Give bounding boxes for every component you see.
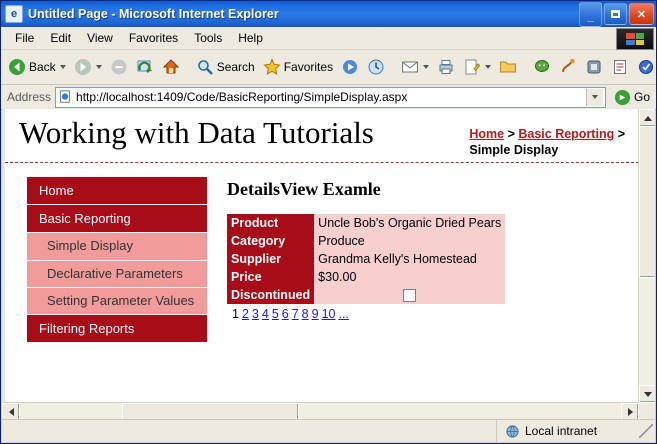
details-label-category: Category	[227, 232, 314, 250]
stop-icon	[110, 58, 128, 76]
address-url-text: http://localhost:1409/Code/BasicReportin…	[76, 90, 407, 104]
menu-item-help[interactable]: Help	[230, 28, 271, 48]
forward-arrow-icon	[74, 58, 92, 76]
address-dropdown-icon[interactable]	[586, 89, 603, 106]
history-button[interactable]	[364, 52, 388, 82]
refresh-icon	[136, 58, 154, 76]
page-body: Home Basic Reporting Simple Display Decl…	[5, 163, 639, 343]
print-icon	[437, 58, 455, 76]
forward-button[interactable]	[71, 52, 105, 82]
scroll-left-button[interactable]	[2, 403, 20, 419]
close-button[interactable]: ✕	[629, 3, 654, 25]
title-bar: e Untitled Page - Microsoft Internet Exp…	[1, 1, 656, 27]
table-row: Product Uncle Bob's Organic Dried Pears	[227, 214, 505, 232]
toolbar: Back	[1, 50, 656, 85]
sidebar-nav: Home Basic Reporting Simple Display Decl…	[27, 177, 207, 343]
page-header: Working with Data Tutorials Home > Basic…	[5, 109, 639, 163]
pager-page-2[interactable]: 2	[242, 307, 249, 321]
mail-dropdown-icon[interactable]	[423, 65, 429, 69]
pager-page-6[interactable]: 6	[282, 307, 289, 321]
horizontal-scrollbar[interactable]	[2, 402, 639, 419]
security-zone-label: Local intranet	[525, 424, 597, 438]
menu-item-file[interactable]: File	[7, 28, 42, 48]
menu-item-tools[interactable]: Tools	[186, 28, 230, 48]
back-label: Back	[29, 60, 56, 74]
home-button[interactable]	[159, 52, 183, 82]
page-title: Working with Data Tutorials	[19, 115, 374, 150]
pager-page-5[interactable]: 5	[272, 307, 279, 321]
maximize-button[interactable]	[604, 3, 627, 25]
window-title: Untitled Page - Microsoft Internet Explo…	[28, 7, 579, 21]
back-dropdown-icon[interactable]	[60, 65, 66, 69]
menu-bar: File Edit View Favorites Tools Help	[1, 27, 656, 50]
breadcrumb-sep-1: >	[504, 127, 518, 141]
menu-item-edit[interactable]: Edit	[42, 28, 79, 48]
research-icon	[559, 58, 577, 76]
pager-page-4[interactable]: 4	[262, 307, 269, 321]
go-arrow-icon	[614, 89, 631, 106]
sidebar-item-home[interactable]: Home	[27, 177, 207, 205]
horizontal-scroll-thumb[interactable]	[122, 403, 299, 419]
extra2-button[interactable]	[608, 52, 632, 82]
web-page: Working with Data Tutorials Home > Basic…	[2, 109, 639, 403]
scrollbar-corner	[639, 403, 655, 419]
pager-page-7[interactable]: 7	[292, 307, 299, 321]
details-label-discontinued: Discontinued	[227, 286, 314, 304]
pager-page-3[interactable]: 3	[252, 307, 259, 321]
menu-item-favorites[interactable]: Favorites	[121, 28, 186, 48]
breadcrumb: Home > Basic Reporting > Simple Display	[469, 115, 625, 158]
edit-button[interactable]	[460, 52, 494, 82]
sidebar-item-declarative-parameters[interactable]: Declarative Parameters	[27, 261, 207, 288]
pager-page-10[interactable]: 10	[322, 307, 336, 321]
globe-icon	[505, 424, 520, 439]
vertical-scrollbar[interactable]	[638, 109, 655, 403]
menu-item-view[interactable]: View	[79, 28, 121, 48]
breadcrumb-home-link[interactable]: Home	[469, 127, 504, 141]
print-button[interactable]	[434, 52, 458, 82]
vertical-scroll-thumb[interactable]	[639, 126, 655, 278]
security-zone[interactable]: Local intranet	[497, 424, 655, 439]
ie-page-icon: e	[5, 5, 23, 23]
table-row: Category Produce	[227, 232, 505, 250]
details-label-price: Price	[227, 268, 314, 286]
tools-icon	[585, 58, 603, 76]
details-label-supplier: Supplier	[227, 250, 314, 268]
address-bar: Address http://localhost:1409/Code/Basic…	[1, 85, 656, 110]
table-row: Price $30.00	[227, 268, 505, 286]
details-value-discontinued	[314, 286, 505, 304]
back-button[interactable]: Back	[5, 52, 69, 82]
discuss-button[interactable]	[496, 52, 520, 82]
breadcrumb-section-link[interactable]: Basic Reporting	[518, 127, 614, 141]
pager: 12345678910...	[227, 304, 629, 321]
details-value-price: $30.00	[314, 268, 505, 286]
browser-window: e Untitled Page - Microsoft Internet Exp…	[0, 0, 657, 444]
pager-page-more[interactable]: ...	[338, 307, 348, 321]
notes-icon	[611, 58, 629, 76]
breadcrumb-current: Simple Display	[469, 143, 625, 159]
details-label-product: Product	[227, 214, 314, 232]
blue-icon	[637, 58, 655, 76]
mail-button[interactable]	[398, 52, 432, 82]
stop-button[interactable]	[107, 52, 131, 82]
page-viewport: Working with Data Tutorials Home > Basic…	[2, 109, 655, 419]
go-button[interactable]: Go	[610, 89, 654, 106]
go-label: Go	[634, 90, 650, 104]
scroll-up-button[interactable]	[639, 109, 655, 127]
status-message	[2, 420, 497, 442]
pager-page-9[interactable]: 9	[312, 307, 319, 321]
extra1-button[interactable]	[582, 52, 606, 82]
page-icon	[58, 90, 72, 104]
sidebar: Home Basic Reporting Simple Display Decl…	[5, 177, 205, 343]
sidebar-item-setting-parameter-values[interactable]: Setting Parameter Values	[27, 288, 207, 315]
details-view-table: Product Uncle Bob's Organic Dried Pears …	[227, 214, 505, 304]
sidebar-item-basic-reporting[interactable]: Basic Reporting	[27, 205, 207, 233]
media-button[interactable]	[338, 52, 362, 82]
search-label: Search	[217, 60, 255, 74]
edit-icon	[463, 58, 481, 76]
status-bar: Local intranet	[2, 419, 655, 442]
media-icon	[341, 58, 359, 76]
details-value-category: Produce	[314, 232, 505, 250]
history-icon	[367, 58, 385, 76]
home-icon	[162, 58, 180, 76]
forward-dropdown-icon[interactable]	[96, 65, 102, 69]
search-icon	[196, 58, 214, 76]
breadcrumb-sep-2: >	[614, 127, 625, 141]
address-input[interactable]: http://localhost:1409/Code/BasicReportin…	[55, 87, 606, 108]
details-value-supplier: Grandma Kelly's Homestead	[314, 250, 505, 268]
pager-page-8[interactable]: 8	[302, 307, 309, 321]
pager-page-1: 1	[232, 307, 239, 321]
refresh-button[interactable]	[133, 52, 157, 82]
favorites-button[interactable]: Favorites	[260, 52, 336, 82]
minimize-button[interactable]: _	[579, 2, 602, 27]
folder-icon	[499, 58, 517, 76]
content-heading: DetailsView Examle	[227, 179, 629, 200]
research-button[interactable]	[556, 52, 580, 82]
window-controls: _ ✕	[579, 2, 654, 27]
sidebar-item-simple-display[interactable]: Simple Display	[27, 233, 207, 260]
search-button[interactable]: Search	[193, 52, 258, 82]
details-value-product: Uncle Bob's Organic Dried Pears	[314, 214, 505, 232]
discontinued-checkbox[interactable]	[403, 289, 416, 302]
messenger-icon	[533, 58, 551, 76]
windows-logo-icon	[616, 28, 654, 50]
mail-icon	[401, 58, 419, 76]
extra3-button[interactable]	[634, 52, 657, 82]
sidebar-item-filtering-reports[interactable]: Filtering Reports	[27, 315, 207, 343]
scroll-down-button[interactable]	[639, 385, 655, 403]
favorites-label: Favorites	[284, 60, 333, 74]
edit-dropdown-icon[interactable]	[485, 65, 491, 69]
star-icon	[263, 58, 281, 76]
content-area: DetailsView Examle Product Uncle Bob's O…	[205, 177, 639, 343]
table-row: Supplier Grandma Kelly's Homestead	[227, 250, 505, 268]
scroll-right-button[interactable]	[621, 403, 639, 419]
table-row: Discontinued	[227, 286, 505, 304]
messenger-button[interactable]	[530, 52, 554, 82]
back-arrow-icon	[8, 58, 26, 76]
resize-grip[interactable]	[639, 424, 653, 438]
address-label: Address	[7, 90, 51, 104]
